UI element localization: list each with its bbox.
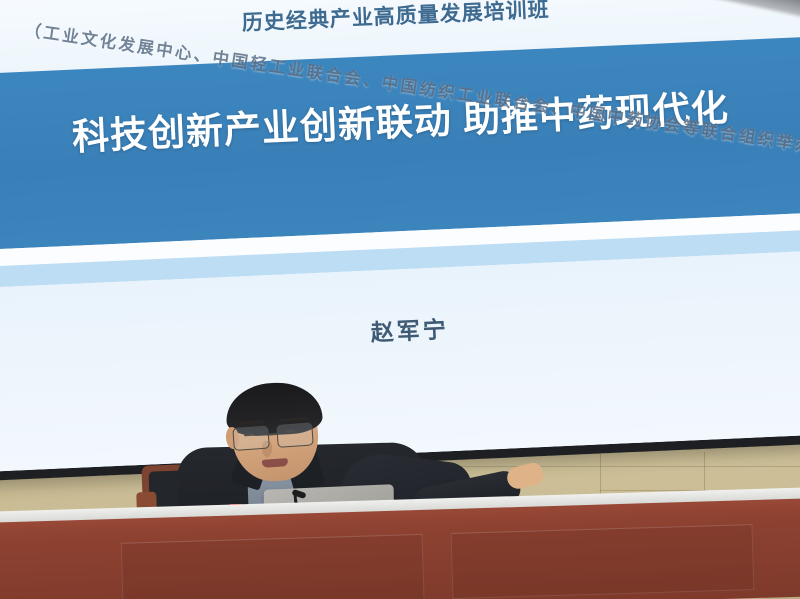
podium-desk <box>0 495 800 599</box>
glasses-lens-right <box>276 422 314 447</box>
podium-panel <box>121 534 425 599</box>
lecture-hall-photo: 历史经典产业高质量发展培训班 科技创新产业创新联动 助推中药现代化 赵军宁 （工… <box>0 0 800 599</box>
glasses-lens-left <box>232 426 270 451</box>
podium-panel <box>451 524 755 599</box>
